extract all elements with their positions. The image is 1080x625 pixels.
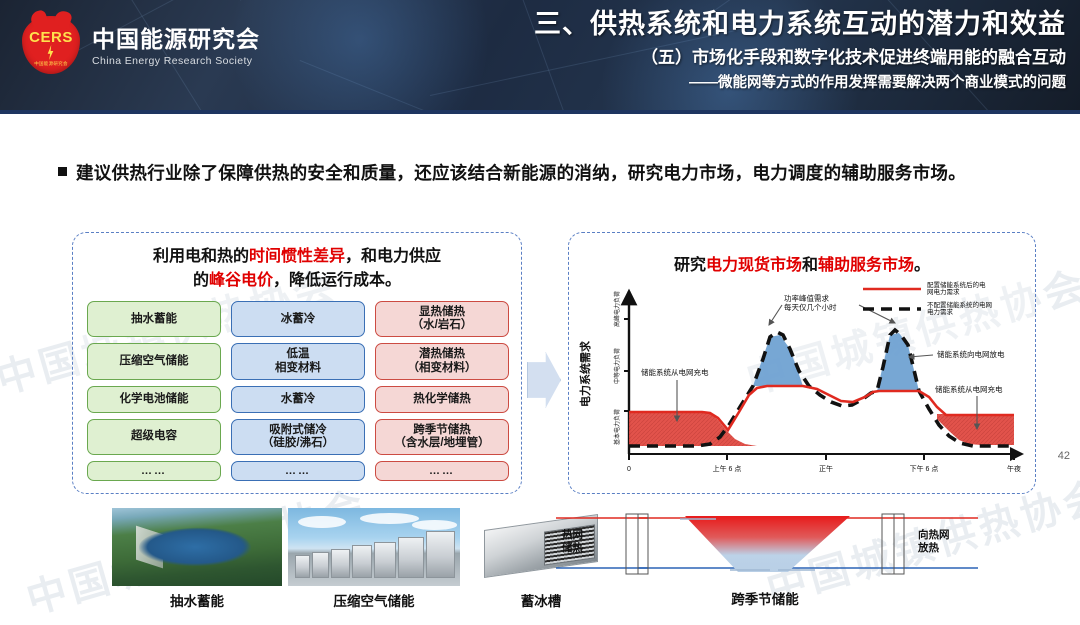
- svg-text:功率峰值需求: 功率峰值需求: [784, 293, 829, 303]
- market-research-panel: 研究电力现货市场和辅助服务市场。: [568, 232, 1036, 494]
- svg-text:网电力需求: 网电力需求: [927, 287, 960, 296]
- bullet-square-icon: [58, 167, 67, 176]
- cers-mark-text: CERS: [20, 29, 82, 46]
- svg-text:配置储能系统后的电: 配置储能系统后的电: [927, 280, 986, 289]
- technology-chip-grid: 抽水蓄能冰蓄冷显热储热（水/岩石）压缩空气储能低温相变材料潜热储热（相变材料）化…: [87, 301, 509, 481]
- tech-chip: 抽水蓄能: [87, 301, 221, 337]
- svg-text:中等电力负荷: 中等电力负荷: [613, 348, 621, 384]
- left-title-part1: 利用电和热的: [153, 248, 249, 265]
- svg-text:高峰电力负荷: 高峰电力负荷: [613, 291, 621, 327]
- page-subtitle: （五）市场化手段和数字化技术促进终端用能的融合互动: [534, 43, 1066, 68]
- storage-technologies-panel: 利用电和热的时间惯性差异，和电力供应 的峰谷电价，降低运行成本。 抽水蓄能冰蓄冷…: [72, 232, 522, 494]
- svg-text:储能系统从电网充电: 储能系统从电网充电: [935, 384, 1003, 394]
- photo-pumped-hydro: [112, 508, 282, 586]
- left-title-part4: ，降低运行成本。: [273, 272, 401, 289]
- photo-caption-2: 压缩空气储能: [288, 590, 460, 610]
- svg-text:放热: 放热: [917, 541, 939, 554]
- seasonal-storage-diagram: 热网 储热 向热网 放热: [530, 506, 1000, 586]
- svg-text:午夜: 午夜: [1007, 464, 1021, 473]
- svg-text:电力需求: 电力需求: [927, 307, 954, 316]
- tech-chip: 冰蓄冷: [231, 301, 365, 337]
- tech-chip: 吸附式储冷（硅胶/沸石）: [231, 419, 365, 455]
- tech-chip: 低温相变材料: [231, 343, 365, 379]
- svg-text:热网: 热网: [562, 528, 583, 541]
- svg-text:不配置储能系统的电网: 不配置储能系统的电网: [927, 300, 992, 309]
- right-title-highlight1: 电力现货市场: [706, 257, 802, 274]
- tech-chip: 压缩空气储能: [87, 343, 221, 379]
- left-title-highlight2: 峰谷电价: [209, 272, 273, 289]
- seasonal-caption: 跨季节储能: [640, 588, 890, 608]
- photo-caption-1: 抽水蓄能: [112, 590, 282, 610]
- tech-chip: 超级电容: [87, 419, 221, 455]
- header-glow: [230, 0, 490, 114]
- slide-title-block: 三、供热系统和电力系统互动的潜力和效益 （五）市场化手段和数字化技术促进终端用能…: [534, 8, 1066, 92]
- svg-text:0: 0: [627, 466, 631, 473]
- svg-text:储能系统从电网充电: 储能系统从电网充电: [641, 367, 709, 377]
- cers-emblem-icon: CERS 中国能源研究会: [20, 16, 82, 78]
- tech-chip: 显热储热（水/岩石）: [375, 301, 509, 337]
- organization-name-en: China Energy Research Society: [92, 55, 260, 67]
- right-title-part3: 。: [914, 257, 930, 274]
- svg-text:正午: 正午: [819, 464, 833, 473]
- load-profile-chart: 功率峰值需求 每天仅几个小时 储能系统从电网充电 储能系统向电网放电 储能系统从…: [577, 279, 1029, 487]
- flow-arrow-icon: [527, 352, 561, 408]
- chart-svg: 功率峰值需求 每天仅几个小时 储能系统从电网充电 储能系统向电网放电 储能系统从…: [577, 279, 1029, 487]
- page-subtitle-2: ——微能网等方式的作用发挥需要解决两个商业模式的问题: [534, 71, 1066, 92]
- bullet-text: 建议供热行业除了保障供热的安全和质量，还应该结合新能源的消纳，研究电力市场，电力…: [76, 158, 966, 189]
- tech-chip: 跨季节储热（含水层/地埋管）: [375, 419, 509, 455]
- photo-caption-3: 蓄冰槽: [466, 590, 616, 610]
- page-number: 42: [1058, 450, 1070, 462]
- photo-compressed-air: [288, 508, 460, 586]
- slide-header: CERS 中国能源研究会 中国能源研究会 China Energy Resear…: [0, 0, 1080, 114]
- svg-text:每天仅几个小时: 每天仅几个小时: [784, 302, 837, 312]
- right-title-part1: 研究: [674, 257, 706, 274]
- right-title-part2: 和: [802, 257, 818, 274]
- right-title-highlight2: 辅助服务市场: [818, 257, 914, 274]
- header-divider: [0, 110, 1080, 114]
- seasonal-storage-svg: 热网 储热 向热网 放热: [530, 506, 1000, 586]
- svg-text:储能系统向电网放电: 储能系统向电网放电: [937, 349, 1005, 359]
- cers-mark-subtext: 中国能源研究会: [24, 61, 78, 67]
- tech-chip: 潜热储热（相变材料）: [375, 343, 509, 379]
- tech-chip: 化学电池储能: [87, 386, 221, 413]
- svg-text:储热: 储热: [562, 541, 583, 554]
- svg-text:基本电力负荷: 基本电力负荷: [613, 409, 621, 445]
- left-title-part3: 的: [193, 272, 209, 289]
- left-title-highlight1: 时间惯性差异: [249, 248, 345, 265]
- svg-text:下午 6 点: 下午 6 点: [910, 464, 939, 473]
- svg-text:上午 6 点: 上午 6 点: [713, 464, 742, 473]
- left-panel-title: 利用电和热的时间惯性差异，和电力供应 的峰谷电价，降低运行成本。: [73, 233, 521, 293]
- svg-text:电力系统需求: 电力系统需求: [578, 340, 592, 407]
- organization-name-cn: 中国能源研究会: [92, 27, 260, 52]
- tech-chip: 热化学储热: [375, 386, 509, 413]
- right-panel-title: 研究电力现货市场和辅助服务市场。: [569, 233, 1035, 275]
- tech-chip: 水蓄冷: [231, 386, 365, 413]
- svg-text:向热网: 向热网: [918, 528, 950, 541]
- tech-chip: ……: [231, 461, 365, 481]
- society-logo: CERS 中国能源研究会 中国能源研究会 China Energy Resear…: [20, 16, 260, 78]
- page-title: 三、供热系统和电力系统互动的潜力和效益: [534, 8, 1066, 40]
- tech-chip: ……: [375, 461, 509, 481]
- left-title-part2: ，和电力供应: [345, 248, 441, 265]
- tech-chip: ……: [87, 461, 221, 481]
- bullet-point: 建议供热行业除了保障供热的安全和质量，还应该结合新能源的消纳，研究电力市场，电力…: [58, 158, 1048, 189]
